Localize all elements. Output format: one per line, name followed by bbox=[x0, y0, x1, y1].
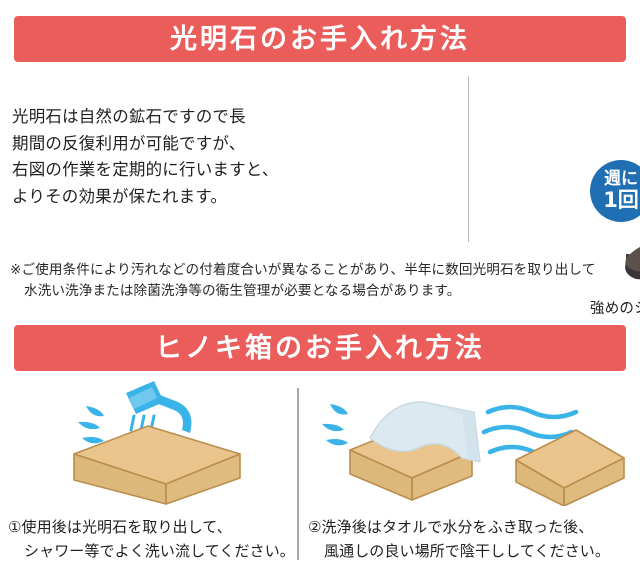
step-1-caption-line-1: ①使用後は光明石を取り出して、 bbox=[8, 515, 295, 539]
intro-line-1: 光明石は自然の鉱石ですので長 bbox=[12, 104, 288, 131]
section-2-title: ヒノキ箱のお手入れ方法 bbox=[155, 335, 485, 362]
panel-divider-bottom bbox=[297, 388, 299, 560]
intro-line-4: よりその効果が保たれます。 bbox=[12, 184, 288, 211]
step-2-caption-line-1: ②洗浄後はタオルで水分をふき取った後、 bbox=[308, 515, 610, 539]
step-1-caption-line-2: シャワー等でよく洗い流してください。 bbox=[8, 539, 295, 563]
section-1-banner: 光明石のお手入れ方法 bbox=[14, 16, 626, 62]
usage-note: ※ご使用条件により汚れなどの付着度合いが異なることがあり、半年に数回光明石を取り… bbox=[10, 260, 634, 303]
usage-note-line-1: ※ご使用条件により汚れなどの付着度合いが異なることがあり、半年に数回光明石を取り… bbox=[10, 260, 634, 281]
care-panel-shower: 週に 1回 強めのシャワーで水洗い bbox=[292, 78, 468, 240]
section-1-title: 光明石のお手入れ方法 bbox=[170, 26, 470, 53]
step-2-caption-line-2: 風通しの良い場所で陰干ししてください。 bbox=[308, 539, 610, 563]
usage-note-line-2: 水洗い洗浄または除菌洗浄等の衛生管理が必要となる場合があります。 bbox=[10, 281, 634, 302]
step-2-caption: ②洗浄後はタオルで水分をふき取った後、 風通しの良い場所で陰干ししてください。 bbox=[308, 515, 610, 563]
intro-line-3: 右図の作業を定期的に行いますと、 bbox=[12, 157, 288, 184]
hinoki-box-towel-wind-icon bbox=[312, 378, 632, 506]
step-1-caption: ①使用後は光明石を取り出して、 シャワー等でよく洗い流してください。 bbox=[8, 515, 295, 563]
section-2-banner: ヒノキ箱のお手入れ方法 bbox=[14, 325, 626, 371]
intro-line-2: 期間の反復利用が可能ですが、 bbox=[12, 131, 288, 158]
care-panel-sun: 半年に 1回 天気のいい日に日向干し bbox=[472, 78, 640, 240]
intro-paragraph: 光明石は自然の鉱石ですので長 期間の反復利用が可能ですが、 右図の作業を定期的に… bbox=[12, 104, 288, 211]
hinoki-box-shower-icon bbox=[30, 378, 280, 506]
panel-divider-top bbox=[468, 76, 469, 242]
infographic-page: 光明石のお手入れ方法 光明石は自然の鉱石ですので長 期間の反復利用が可能ですが、… bbox=[0, 0, 640, 578]
